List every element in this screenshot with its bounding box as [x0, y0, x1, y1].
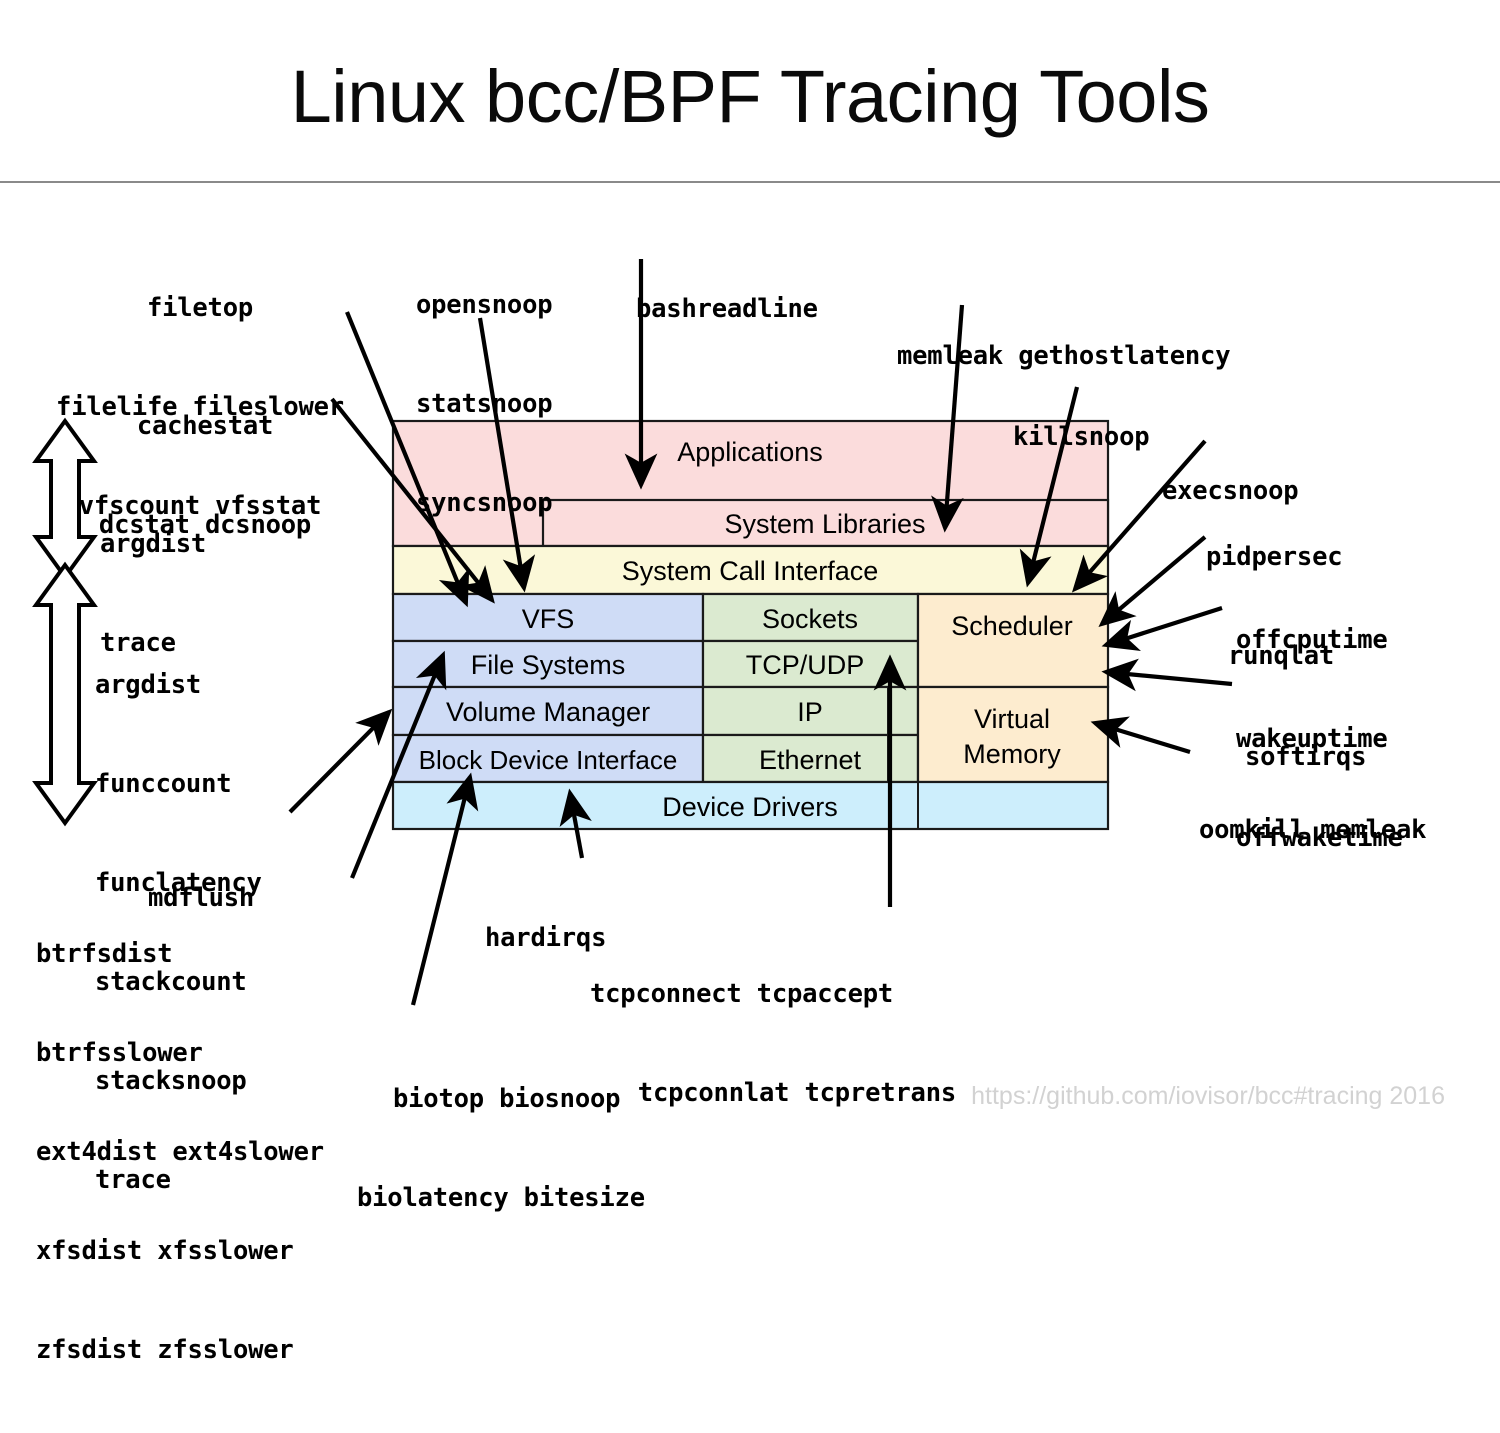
- slide-root: Linux bcc/BPF Tracing Tools: [0, 0, 1500, 1125]
- label-system-libraries: System Libraries: [724, 509, 925, 539]
- annotation-zfs: zfsdist zfsslower: [36, 1334, 456, 1367]
- label-sockets: Sockets: [762, 604, 858, 634]
- annotation-tcpconnect-tcpaccept: tcpconnect tcpaccept: [590, 978, 1090, 1011]
- label-device-drivers: Device Drivers: [662, 792, 838, 822]
- label-ethernet: Ethernet: [759, 745, 862, 775]
- annotation-syscall-snoop-line-1: statsnoop: [416, 388, 716, 421]
- source-footer: https://github.com/iovisor/bcc#tracing 2…: [971, 1082, 1445, 1111]
- label-block-device-interface: Block Device Interface: [419, 745, 678, 775]
- arrow-oomkill-memleak: [1095, 723, 1190, 752]
- annotation-tcpconnlat-tcpretrans: tcpconnlat tcpretrans: [576, 1077, 956, 1110]
- annotation-oomkill-memleak-line-0: oomkill memleak: [1199, 814, 1499, 847]
- annotation-argdist-upper: argdist: [100, 528, 360, 561]
- annotation-btrfsdist: btrfsdist: [36, 938, 456, 971]
- label-virtual-memory-line2: Memory: [963, 739, 1061, 769]
- label-volume-manager: Volume Manager: [446, 697, 650, 727]
- arrow-offcpu-tools: [1106, 608, 1222, 645]
- label-virtual-memory-line1: Virtual: [974, 704, 1050, 734]
- label-tcp-udp: TCP/UDP: [746, 650, 865, 680]
- annotation-file-tools-line-0: filetop: [20, 292, 380, 325]
- annotation-biolatency-bitesize: biolatency bitesize: [357, 1182, 817, 1215]
- label-vfs: VFS: [522, 604, 575, 634]
- annotation-oomkill-memleak: oomkill memleak: [1199, 748, 1499, 913]
- annotation-offcputime-line-0: offcputime: [1236, 624, 1500, 657]
- label-ip: IP: [797, 697, 823, 727]
- annotation-syscall-snoop-line-2: syncsnoop: [416, 487, 716, 520]
- annotation-tcp-tools: tcpconnect tcpaccept tcpconnlat tcpretra…: [590, 912, 1090, 1176]
- annotation-funccount: funccount: [95, 768, 415, 801]
- label-scheduler: Scheduler: [951, 611, 1073, 641]
- annotation-cache-tools-line-0: cachestat: [55, 410, 355, 443]
- annotation-argdist-lower: argdist: [95, 669, 415, 702]
- label-file-systems: File Systems: [471, 650, 626, 680]
